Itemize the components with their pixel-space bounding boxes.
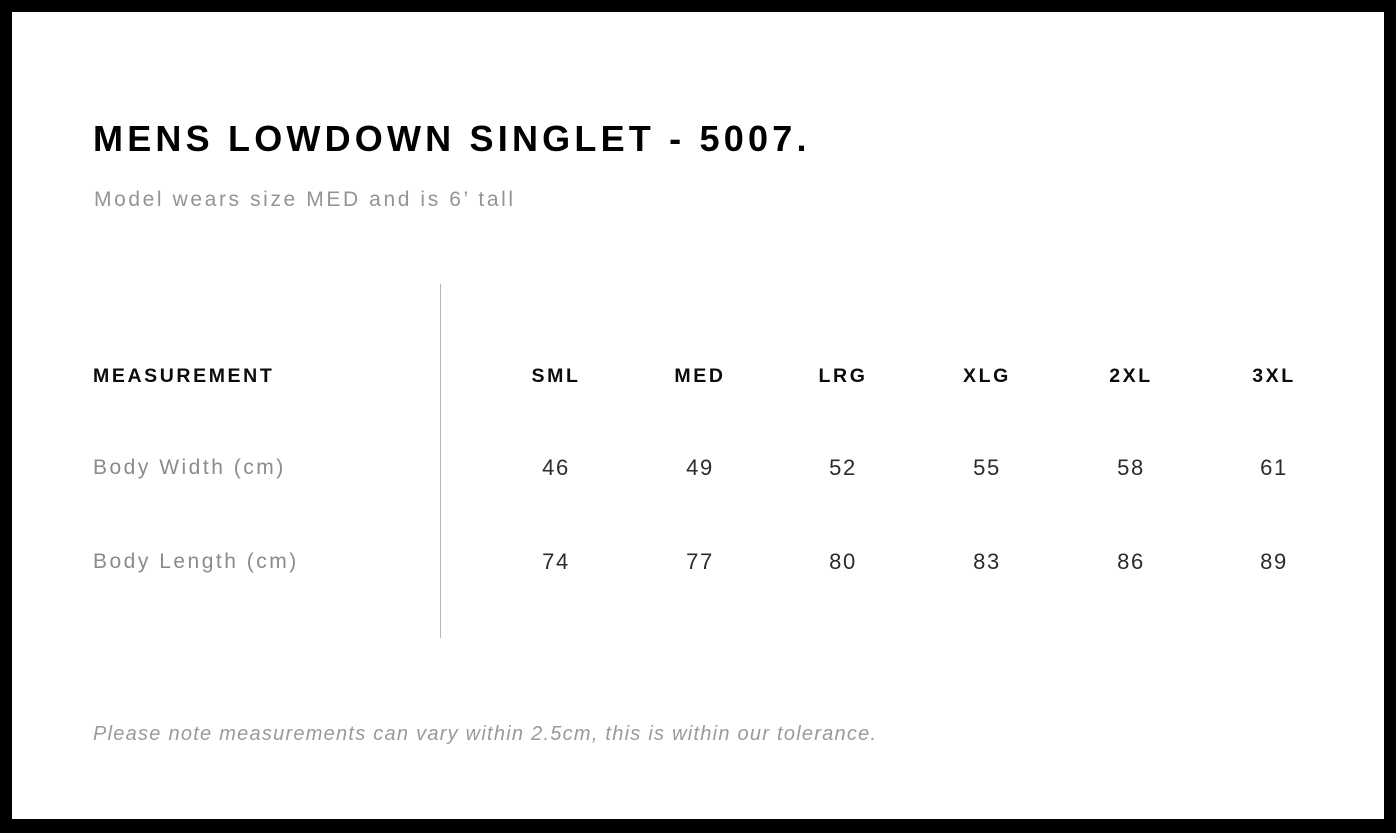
size-table: MEASUREMENT SML MED LRG XLG 2XL 3XL Body… <box>12 12 1384 819</box>
cell-body-width-sml: 46 <box>496 448 616 488</box>
page-border: MENS LOWDOWN SINGLET - 5007. Model wears… <box>0 0 1396 833</box>
column-header-measurement: MEASUREMENT <box>93 356 274 396</box>
column-header-sml: SML <box>496 356 616 396</box>
row-label-body-length: Body Length (cm) <box>93 542 299 582</box>
cell-body-width-2xl: 58 <box>1071 448 1191 488</box>
cell-body-width-3xl: 61 <box>1214 448 1334 488</box>
column-header-3xl: 3XL <box>1214 356 1334 396</box>
column-header-xlg: XLG <box>927 356 1047 396</box>
cell-body-length-3xl: 89 <box>1214 542 1334 582</box>
cell-body-width-med: 49 <box>640 448 760 488</box>
column-header-2xl: 2XL <box>1071 356 1191 396</box>
cell-body-length-sml: 74 <box>496 542 616 582</box>
cell-body-width-lrg: 52 <box>783 448 903 488</box>
cell-body-width-xlg: 55 <box>927 448 1047 488</box>
column-header-lrg: LRG <box>783 356 903 396</box>
cell-body-length-med: 77 <box>640 542 760 582</box>
row-label-body-width: Body Width (cm) <box>93 448 286 488</box>
cell-body-length-xlg: 83 <box>927 542 1047 582</box>
size-chart-sheet: MENS LOWDOWN SINGLET - 5007. Model wears… <box>12 12 1384 819</box>
cell-body-length-lrg: 80 <box>783 542 903 582</box>
table-row: Body Length (cm) 74 77 80 83 86 89 <box>12 542 1384 582</box>
cell-body-length-2xl: 86 <box>1071 542 1191 582</box>
tolerance-footnote: Please note measurements can vary within… <box>93 719 877 749</box>
table-row: Body Width (cm) 46 49 52 55 58 61 <box>12 448 1384 488</box>
column-header-med: MED <box>640 356 760 396</box>
table-header-row: MEASUREMENT SML MED LRG XLG 2XL 3XL <box>12 356 1384 396</box>
